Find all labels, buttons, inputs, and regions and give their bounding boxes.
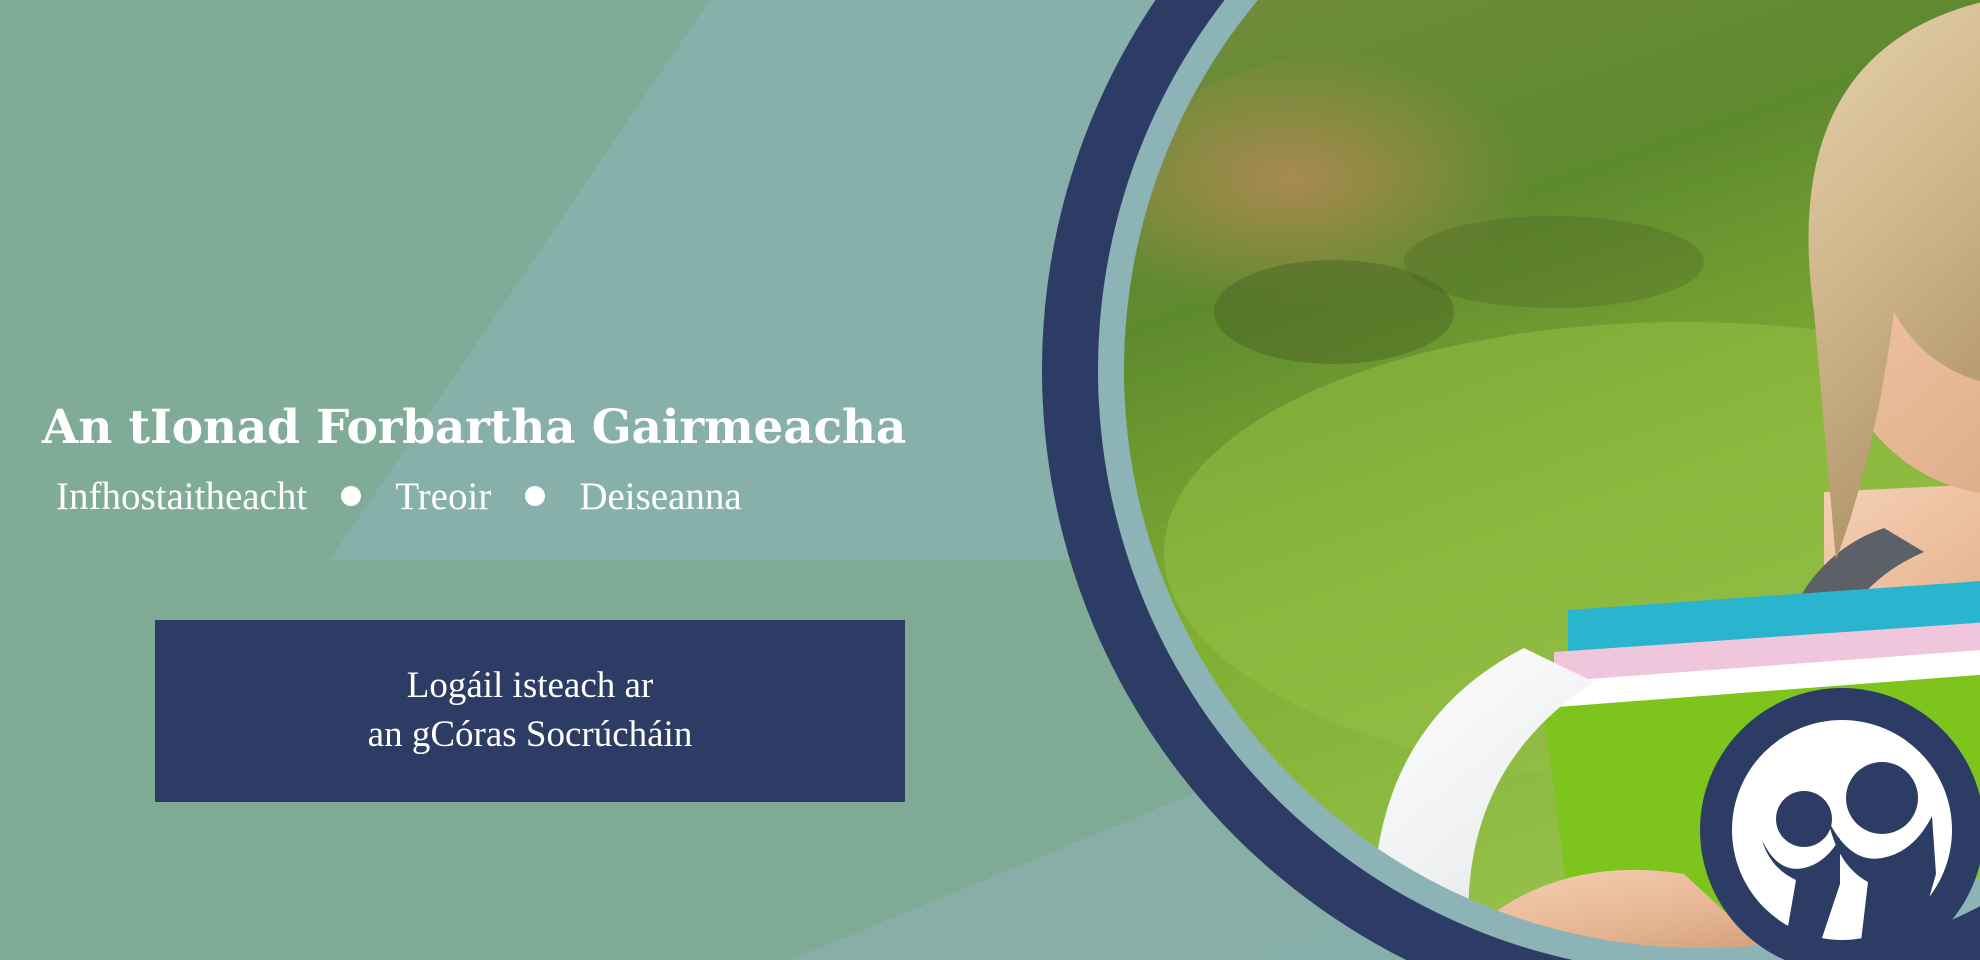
bullet-dot-icon — [525, 486, 545, 506]
login-button-label-line1: Logáil isteach ar — [407, 662, 654, 711]
photo-sky-blur — [1404, 0, 1980, 32]
tagline-item-guidance: Treoir — [395, 477, 491, 516]
backpack-strap — [1784, 528, 1924, 652]
folder-cyan — [1568, 560, 1980, 654]
career-development-banner: An tIonad Forbartha Gairmeacha Infhostai… — [0, 0, 1980, 960]
login-placement-system-button[interactable]: Logáil isteach ar an gCóras Socrúcháin — [155, 620, 905, 802]
photo-foliage-blur-a — [1214, 260, 1454, 364]
two-figures-logo-icon — [1700, 688, 1980, 960]
student-sleeve — [1373, 648, 1594, 948]
student-face — [1814, 30, 1980, 494]
tagline-item-employability: Infhostaitheacht — [56, 477, 307, 516]
photo-foliage-blur-b — [1404, 216, 1704, 308]
page-title: An tIonad Forbartha Gairmeacha — [42, 404, 942, 453]
student-hair — [1808, 0, 1980, 560]
tagline-list: Infhostaitheacht Treoir Deiseanna — [56, 477, 942, 516]
login-button-label-line2: an gCóras Socrúcháin — [368, 711, 693, 760]
organisation-logo[interactable] — [1700, 688, 1980, 960]
bullet-dot-icon — [341, 486, 361, 506]
banner-copy: An tIonad Forbartha Gairmeacha Infhostai… — [42, 404, 942, 516]
photo-warm-blur — [1124, 42, 1754, 402]
tagline-item-opportunities: Deiseanna — [579, 477, 741, 516]
folder-pink — [1554, 602, 1980, 684]
student-neck — [1824, 482, 1980, 687]
